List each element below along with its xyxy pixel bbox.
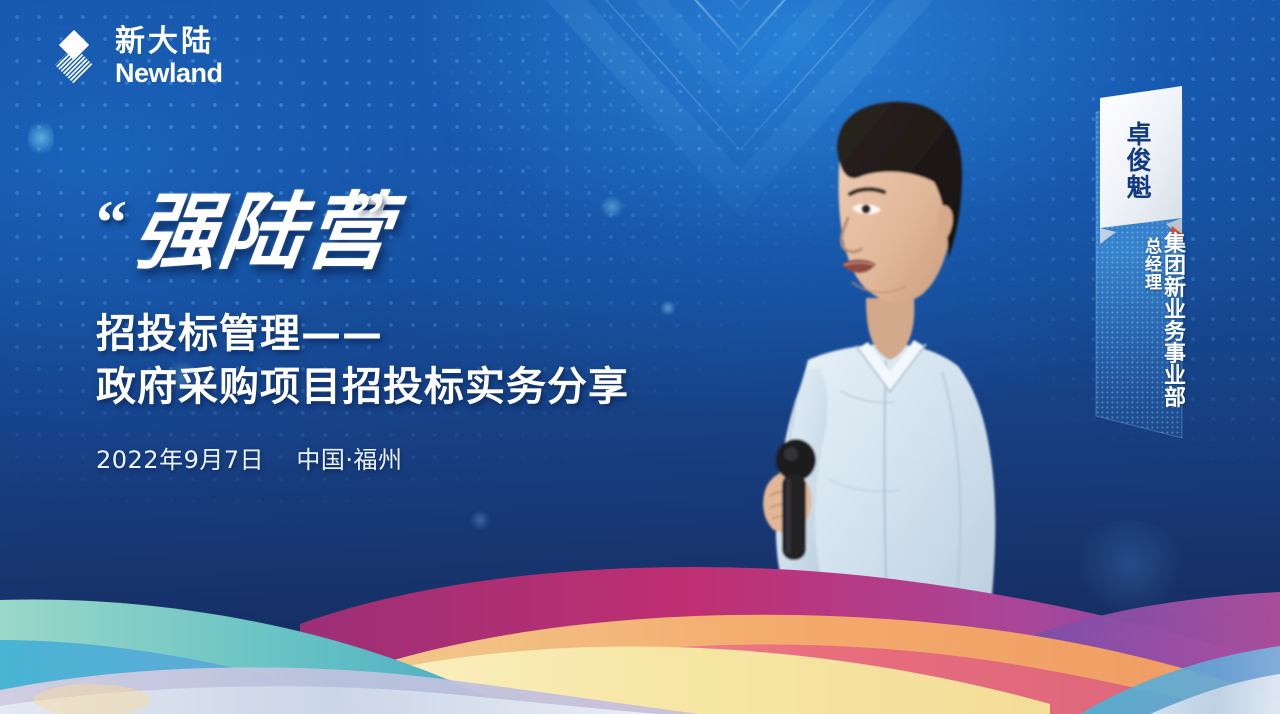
- speaker-department-char-2: 团: [1164, 256, 1186, 278]
- slide-canvas: 新大陆 Newland “ 强陆营 ” 招投标管理—— 政府采购项目招投标实务分…: [0, 0, 1280, 714]
- speaker-role-char-3: 理: [1145, 275, 1162, 292]
- speaker-name-char-3: 魁: [1126, 175, 1151, 201]
- brand-logo: 新大陆 Newland: [46, 27, 223, 87]
- event-date: 2022年9月7日: [96, 446, 264, 474]
- brand-name-cn: 新大陆: [115, 27, 223, 57]
- speaker-name-char-1: 卓: [1126, 122, 1151, 148]
- speaker-department-char-5: 务: [1164, 322, 1186, 344]
- quote-open-mark: “: [96, 192, 127, 254]
- speaker-role-char-1: 总: [1145, 239, 1162, 256]
- speaker-credential-banner: 卓 俊 魁 集团新业务事业部 总经理: [1086, 86, 1194, 458]
- speaker-name-char-2: 俊: [1126, 148, 1151, 174]
- speaker-department-char-3: 新: [1164, 278, 1186, 300]
- bokeh-glow: [470, 510, 490, 530]
- brand-name-en: Newland: [115, 60, 223, 87]
- quote-close-mark: ”: [354, 184, 385, 246]
- speaker-department-char-6: 事: [1164, 344, 1186, 366]
- speaker-photo: [690, 60, 1110, 714]
- newland-diamond-logo-icon: [46, 28, 102, 86]
- speaker-department-char-8: 部: [1164, 388, 1186, 410]
- speaker-role: 总经理: [1145, 234, 1162, 456]
- speaker-department-char-7: 业: [1164, 366, 1186, 388]
- speaker-department-char-1: 集: [1164, 234, 1186, 256]
- speaker-department: 集团新业务事业部: [1164, 234, 1186, 456]
- subtitle-line-1: 招投标管理——: [96, 311, 383, 357]
- speaker-department-char-4: 业: [1164, 300, 1186, 322]
- speaker-title-columns: 集团新业务事业部 总经理: [1094, 234, 1186, 456]
- speaker-role-char-2: 经: [1145, 257, 1162, 274]
- speaker-name: 卓 俊 魁: [1106, 102, 1172, 220]
- bokeh-glow: [28, 118, 54, 158]
- event-location: 中国·福州: [296, 446, 402, 474]
